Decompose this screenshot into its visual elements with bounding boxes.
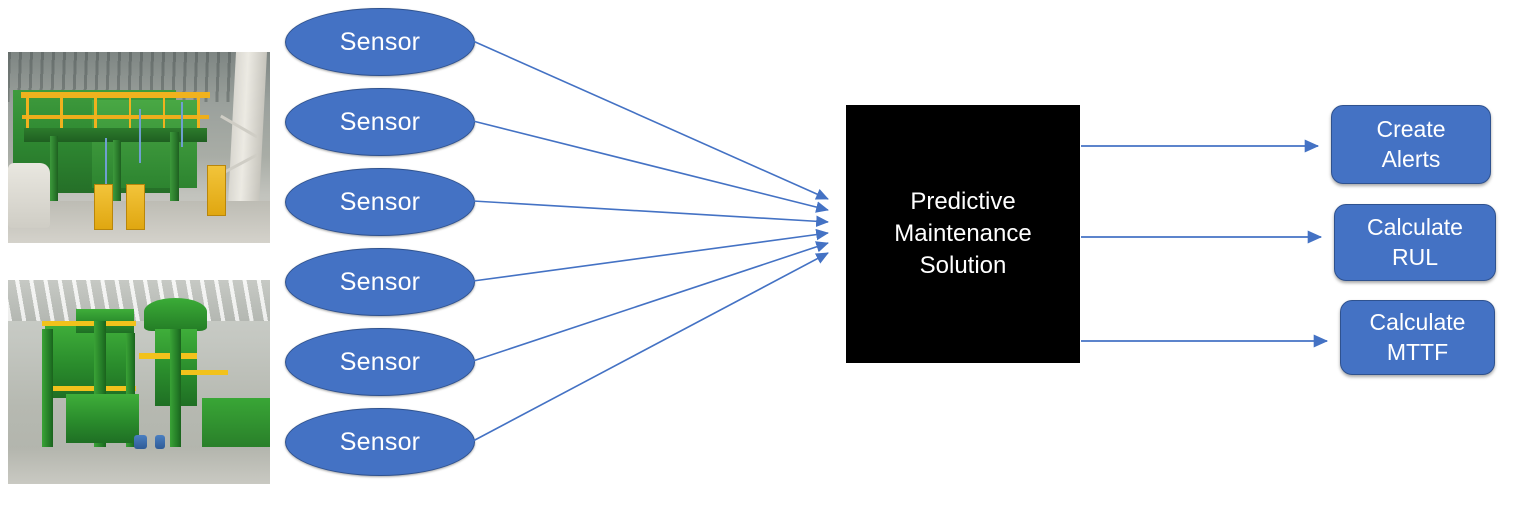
industrial-plant-photo-top — [8, 52, 270, 243]
calculate-mttf-label-line-1: Calculate — [1370, 308, 1466, 338]
sensor-node-1[interactable]: Sensor — [285, 8, 475, 76]
sensor-arrow-5 — [473, 243, 828, 361]
sensor-node-6[interactable]: Sensor — [285, 408, 475, 476]
sensor-label: Sensor — [340, 268, 420, 297]
sensor-label: Sensor — [340, 348, 420, 377]
calculate-mttf-box[interactable]: Calculate MTTF — [1340, 300, 1495, 375]
solution-label-line-2: Maintenance — [894, 218, 1031, 250]
diagram-canvas: Sensor Sensor Sensor Sensor Sensor Senso… — [0, 0, 1519, 518]
calculate-mttf-label-line-2: MTTF — [1370, 338, 1466, 368]
sensor-label: Sensor — [340, 28, 420, 57]
sensor-arrow-6 — [473, 253, 828, 441]
sensor-arrow-3 — [473, 201, 828, 222]
sensor-label: Sensor — [340, 108, 420, 137]
create-alerts-box[interactable]: Create Alerts — [1331, 105, 1491, 184]
sensor-node-2[interactable]: Sensor — [285, 88, 475, 156]
sensor-node-3[interactable]: Sensor — [285, 168, 475, 236]
sensor-arrow-1 — [473, 41, 828, 199]
sensor-arrow-4 — [473, 233, 828, 281]
calculate-rul-label-line-2: RUL — [1367, 243, 1463, 273]
sensor-to-solution-arrows — [473, 41, 828, 441]
calculate-rul-label-line-1: Calculate — [1367, 213, 1463, 243]
sensor-node-5[interactable]: Sensor — [285, 328, 475, 396]
solution-label-line-3: Solution — [894, 250, 1031, 282]
sensor-label: Sensor — [340, 428, 420, 457]
create-alerts-label-line-2: Alerts — [1376, 145, 1445, 175]
sensor-node-4[interactable]: Sensor — [285, 248, 475, 316]
sensor-arrow-2 — [473, 121, 828, 210]
industrial-plant-photo-bottom — [8, 280, 270, 484]
solution-label-line-1: Predictive — [894, 186, 1031, 218]
calculate-rul-box[interactable]: Calculate RUL — [1334, 204, 1496, 281]
create-alerts-label-line-1: Create — [1376, 115, 1445, 145]
sensor-label: Sensor — [340, 188, 420, 217]
predictive-maintenance-solution-box[interactable]: Predictive Maintenance Solution — [846, 105, 1080, 363]
solution-to-output-arrows — [1081, 146, 1327, 341]
